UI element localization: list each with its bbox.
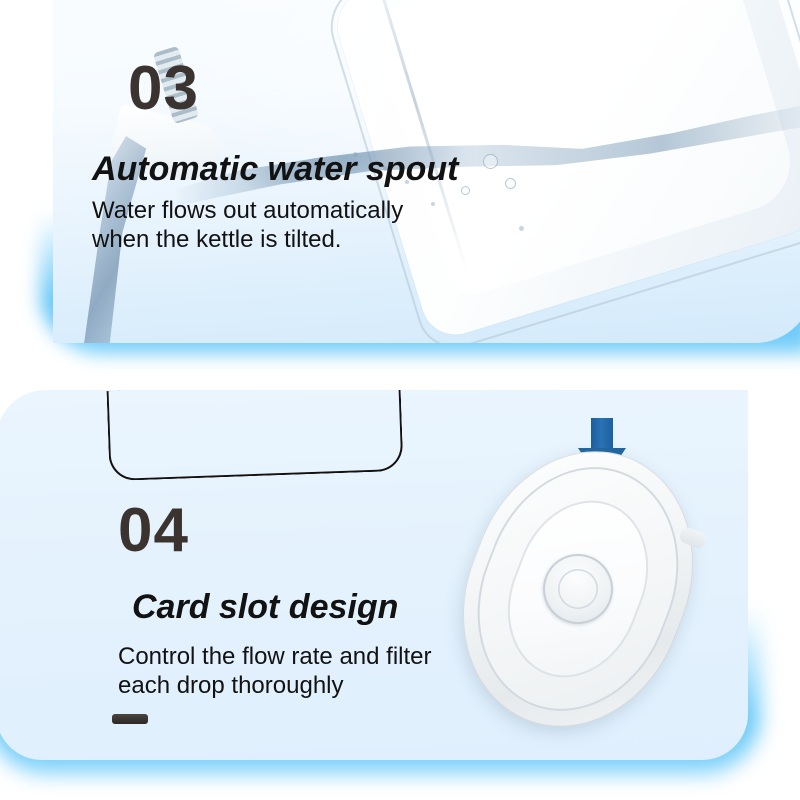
droplet (431, 202, 435, 206)
device-center-button (533, 544, 623, 634)
panel-03-body-text: Water flows out automatically when the k… (92, 196, 403, 255)
panel-04-accent-dash (112, 714, 148, 724)
device-inner-face (486, 481, 671, 697)
panel-04-body-text: Control the flow rate and filter each dr… (118, 642, 432, 701)
bubble (461, 186, 470, 195)
panel-03-number: 03 (128, 58, 199, 120)
infographic-stage: 03 Automatic water spout Water flows out… (0, 0, 800, 800)
bubble (505, 178, 516, 189)
droplet (519, 226, 524, 231)
product-outline-sketch (107, 390, 404, 481)
panel-04-number: 04 (118, 500, 189, 562)
device-tab (678, 526, 708, 550)
bubble (483, 154, 498, 169)
panel-04-headline: Card slot design (132, 590, 398, 624)
panel-03-headline: Automatic water spout (92, 152, 458, 186)
